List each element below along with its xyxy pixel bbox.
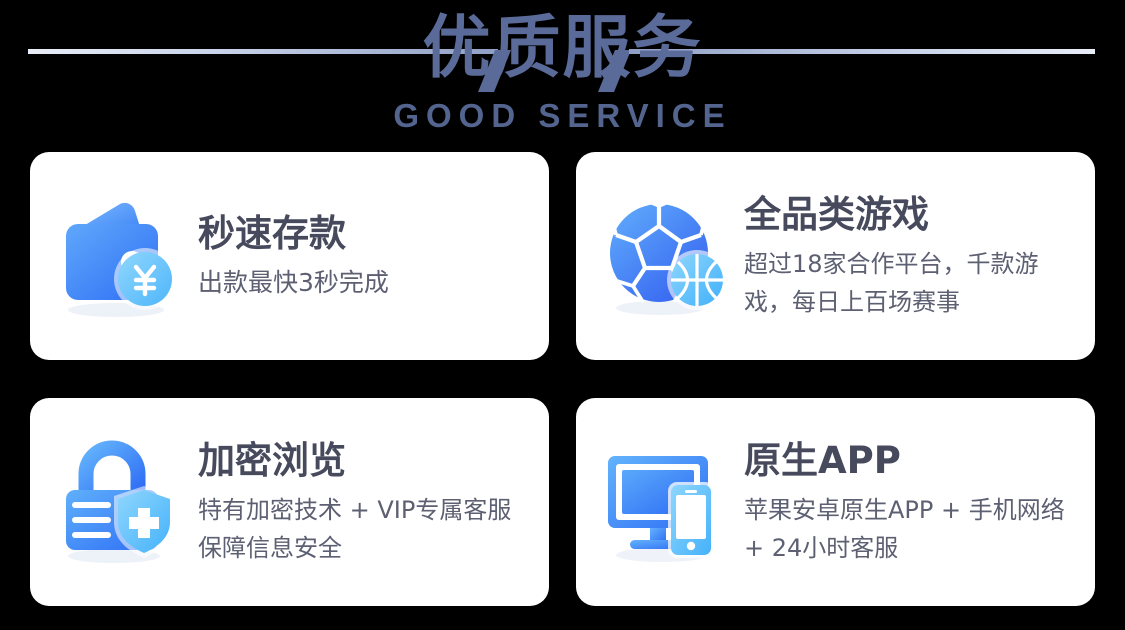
lock-shield-icon xyxy=(56,438,184,566)
feature-card-deposit[interactable]: 秒速存款 出款最快3秒完成 xyxy=(30,152,549,360)
feature-card-desc: 苹果安卓原生APP + 手机网络 + 24小时客服 xyxy=(744,491,1081,567)
feature-card-text: 原生APP 苹果安卓原生APP + 手机网络 + 24小时客服 xyxy=(744,438,1081,567)
feature-card-text: 全品类游戏 超过18家合作平台，千款游戏，每日上百场赛事 xyxy=(744,192,1081,321)
feature-card-grid: 秒速存款 出款最快3秒完成 xyxy=(30,152,1095,606)
feature-card-title: 原生APP xyxy=(744,438,1081,484)
page-title: 优质服务 xyxy=(0,6,1125,92)
feature-card-desc: 出款最快3秒完成 xyxy=(198,264,535,302)
wallet-yen-icon xyxy=(56,192,184,320)
feature-card-native-app[interactable]: 原生APP 苹果安卓原生APP + 手机网络 + 24小时客服 xyxy=(576,398,1095,606)
feature-card-title: 加密浏览 xyxy=(198,438,535,484)
feature-card-games[interactable]: 全品类游戏 超过18家合作平台，千款游戏，每日上百场赛事 xyxy=(576,152,1095,360)
soccer-basketball-icon xyxy=(602,192,730,320)
feature-card-text: 加密浏览 特有加密技术 + VIP专属客服保障信息安全 xyxy=(198,438,535,567)
page-subtitle: GOOD SERVICE xyxy=(0,96,1125,136)
feature-card-title: 秒速存款 xyxy=(198,211,535,257)
page-header: 优质服务 GOOD SERVICE xyxy=(0,0,1125,150)
monitor-phone-icon xyxy=(602,438,730,566)
feature-card-text: 秒速存款 出款最快3秒完成 xyxy=(198,211,535,302)
feature-card-desc: 超过18家合作平台，千款游戏，每日上百场赛事 xyxy=(744,245,1081,321)
feature-card-encryption[interactable]: 加密浏览 特有加密技术 + VIP专属客服保障信息安全 xyxy=(30,398,549,606)
feature-card-desc: 特有加密技术 + VIP专属客服保障信息安全 xyxy=(198,491,535,567)
feature-card-title: 全品类游戏 xyxy=(744,192,1081,238)
